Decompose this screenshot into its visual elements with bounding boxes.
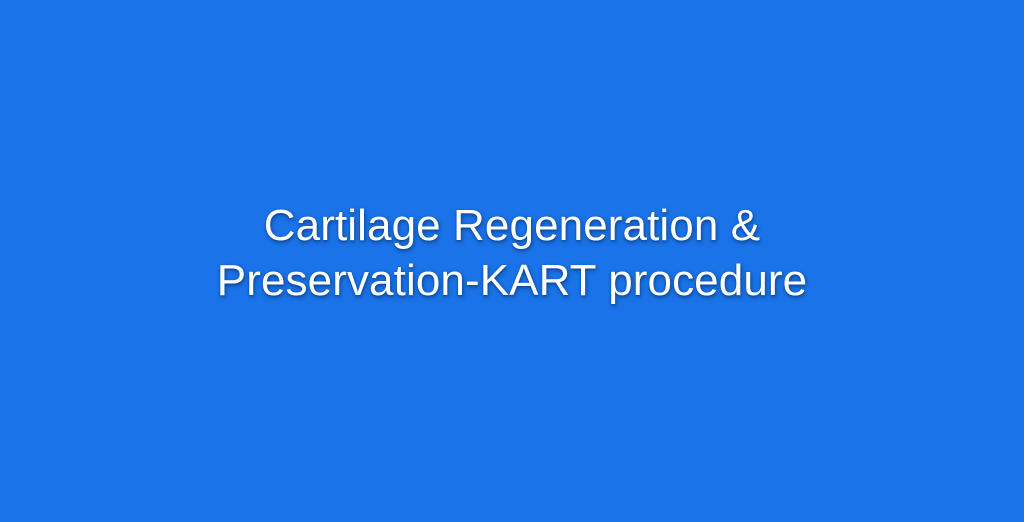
page-title: Cartilage Regeneration & Preservation-KA… (0, 198, 1024, 308)
page-title-line-2: Preservation-KART procedure (40, 253, 984, 308)
page-title-line-1: Cartilage Regeneration & (40, 198, 984, 253)
page-banner: Cartilage Regeneration & Preservation-KA… (0, 0, 1024, 522)
